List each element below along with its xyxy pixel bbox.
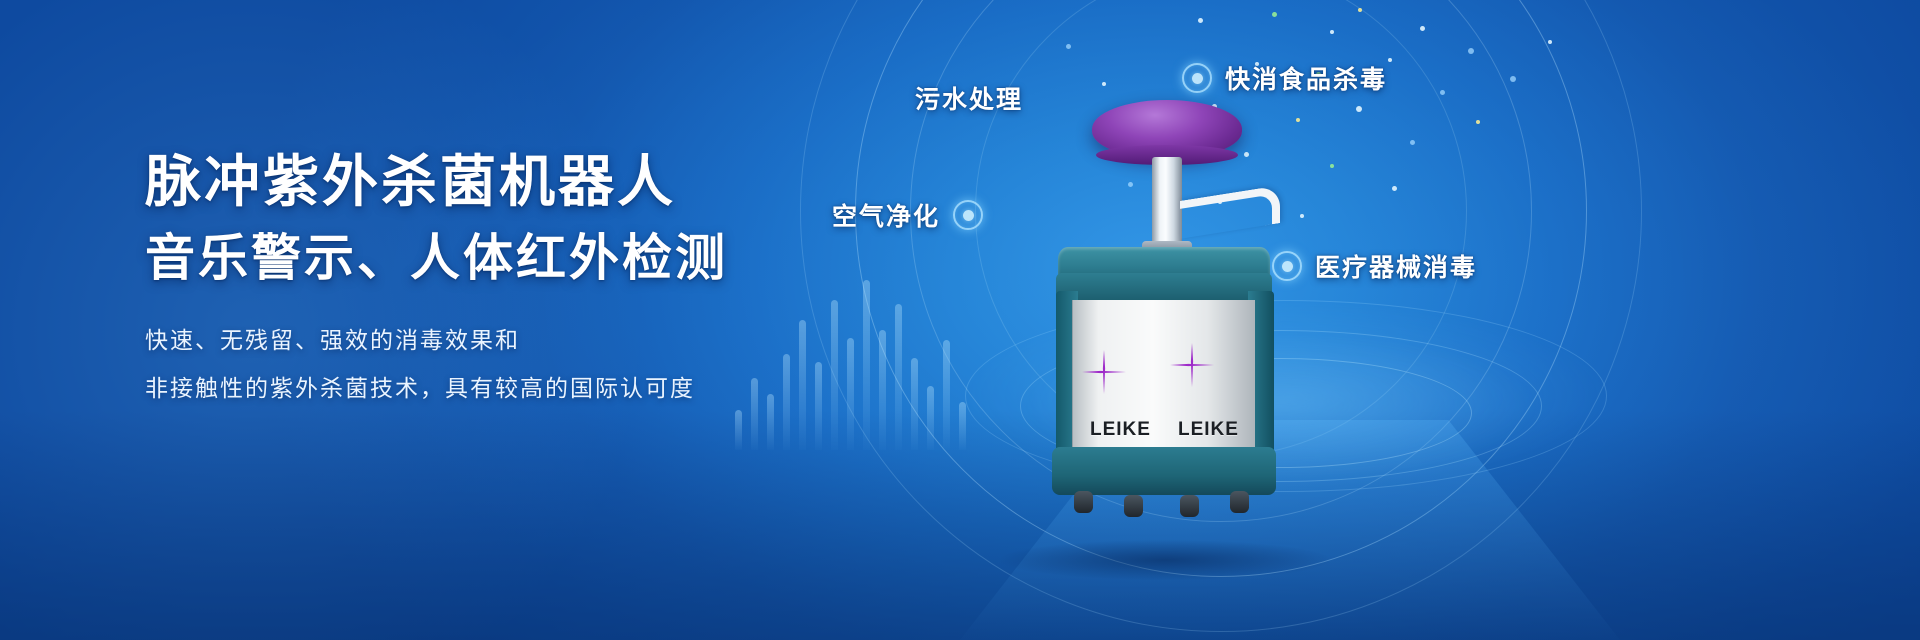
brand-logo-left: LEIKE bbox=[1090, 419, 1151, 441]
ring-dot-marker-icon bbox=[953, 200, 983, 230]
robot-caster-wheel bbox=[1230, 491, 1249, 513]
callout-sewage-treatment: 污水处理 bbox=[915, 80, 1023, 116]
subtext-block: 快速、无残留、强效的消毒效果和 非接触性的紫外杀菌技术，具有较高的国际认可度 bbox=[145, 326, 865, 404]
uv-lamp-tube bbox=[1152, 157, 1182, 245]
callout-fmcg-food-sterilization: 快消食品杀毒 bbox=[1182, 60, 1387, 96]
callout-label: 快消食品杀毒 bbox=[1225, 60, 1387, 96]
robot-base bbox=[1052, 447, 1276, 495]
subtext-line-1: 快速、无残留、强效的消毒效果和 bbox=[145, 326, 865, 356]
callout-label: 污水处理 bbox=[915, 80, 1023, 116]
subtext-line-2: 非接触性的紫外杀菌技术，具有较高的国际认可度 bbox=[145, 374, 865, 404]
callout-medical-device-disinfection: 医疗器械消毒 bbox=[1272, 248, 1477, 284]
sparkle-star-icon bbox=[1082, 350, 1126, 394]
ring-dot-marker-icon bbox=[1182, 63, 1212, 93]
headline-secondary: 音乐警示、人体红外检测 bbox=[145, 228, 865, 288]
hero-banner: 脉冲紫外杀菌机器人 音乐警示、人体红外检测 快速、无残留、强效的消毒效果和 非接… bbox=[0, 0, 1920, 640]
robot-handle bbox=[1180, 185, 1280, 239]
robot-caster-wheel bbox=[1180, 495, 1199, 517]
callout-label: 医疗器械消毒 bbox=[1315, 248, 1477, 284]
callout-air-purification: 空气净化 bbox=[832, 197, 983, 233]
product-ground-shadow bbox=[1000, 540, 1330, 580]
robot-caster-wheel bbox=[1124, 495, 1143, 517]
uv-disinfection-robot-illustration: LEIKE LEIKE bbox=[1030, 95, 1290, 495]
robot-top-plate-lower bbox=[1056, 273, 1272, 303]
robot-caster-wheel bbox=[1074, 491, 1093, 513]
headline-primary: 脉冲紫外杀菌机器人 bbox=[145, 150, 865, 214]
headline-copy-block: 脉冲紫外杀菌机器人 音乐警示、人体红外检测 快速、无残留、强效的消毒效果和 非接… bbox=[145, 150, 865, 422]
callout-label: 空气净化 bbox=[832, 197, 940, 233]
brand-logo-right: LEIKE bbox=[1178, 419, 1239, 441]
sparkle-star-icon bbox=[1170, 343, 1214, 387]
